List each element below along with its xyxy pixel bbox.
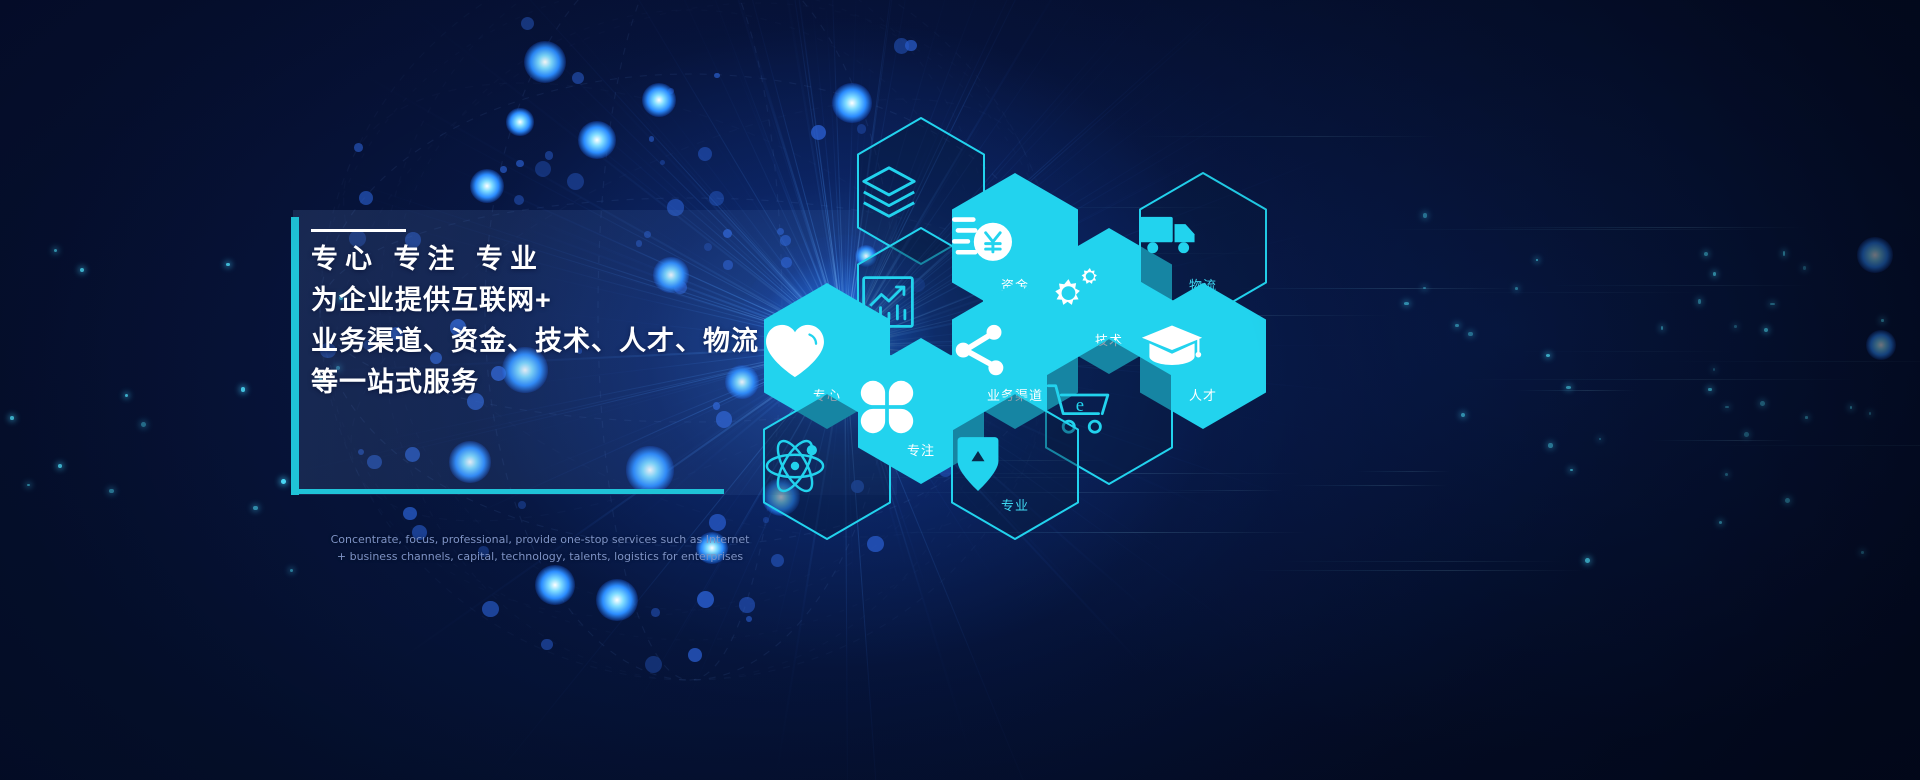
banner-root: 专心 专注 专业 为企业提供互联网+ 业务渠道、资金、技术、人才、物流 等一站式… [0,0,1920,780]
vignette-overlay [0,0,1920,780]
